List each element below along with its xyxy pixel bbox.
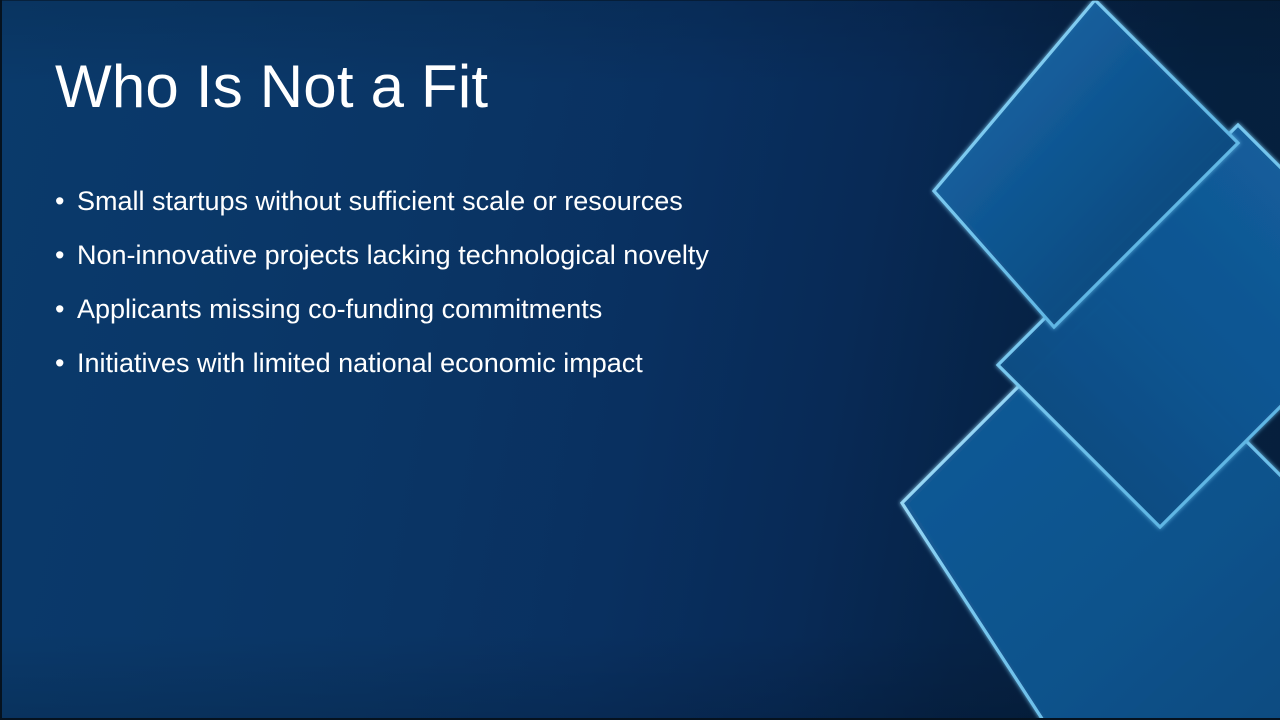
slide-content: Who Is Not a Fit • Small startups withou… — [0, 0, 900, 720]
bullet-icon: • — [55, 350, 77, 377]
bullet-icon: • — [55, 296, 77, 323]
list-item: • Small startups without sufficient scal… — [55, 188, 875, 242]
list-item-label: Small startups without sufficient scale … — [77, 188, 683, 215]
list-item-label: Initiatives with limited national econom… — [77, 350, 643, 377]
slide-border-top — [0, 0, 1280, 1]
bullet-icon: • — [55, 188, 77, 215]
list-item: • Applicants missing co-funding commitme… — [55, 296, 875, 350]
bullet-list: • Small startups without sufficient scal… — [55, 188, 875, 404]
slide-border-left — [0, 0, 2, 720]
list-item: • Non-innovative projects lacking techno… — [55, 242, 875, 296]
page-title: Who Is Not a Fit — [55, 54, 488, 120]
presentation-slide: Who Is Not a Fit • Small startups withou… — [0, 0, 1280, 720]
list-item-label: Applicants missing co-funding commitment… — [77, 296, 602, 323]
list-item: • Initiatives with limited national econ… — [55, 350, 875, 404]
bullet-icon: • — [55, 242, 77, 269]
list-item-label: Non-innovative projects lacking technolo… — [77, 242, 709, 269]
